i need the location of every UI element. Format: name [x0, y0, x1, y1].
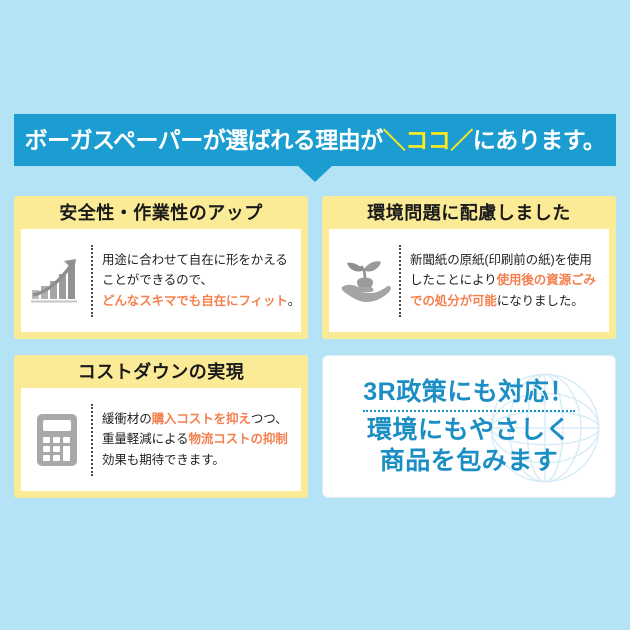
text-line: したことにより使用後の資源ごみ [410, 270, 603, 290]
promo-text: 3R政策にも対応！ 環境にもやさしく 商品を包みます [363, 377, 574, 477]
promo-line-3: 商品を包みます [363, 446, 574, 477]
promo-line-2: 環境にもやさしく [363, 415, 574, 446]
card-title: 安全性・作業性のアップ [14, 196, 308, 229]
banner-arrow-icon [298, 166, 332, 182]
text-line: 重量軽減による物流コストの抑制 [102, 429, 295, 449]
header-banner: ボーガスペーパーが選ばれる理由が＼ココ／にあります。 [0, 114, 630, 166]
banner-bar: ボーガスペーパーが選ばれる理由が＼ココ／にあります。 [14, 114, 616, 166]
promo-line-1: 3R政策にも対応！ [363, 377, 574, 413]
text-line: 緩衝材の購入コストを抑えつつ、 [102, 409, 295, 429]
icon-text-divider [91, 404, 93, 476]
text-line: 効果も期待できます。 [102, 450, 295, 470]
feature-card-grid: 安全性・作業性のアップ 用途に合わせて自在 [14, 196, 616, 498]
text-line: どんなスキマでも自在にフィット。 [102, 291, 300, 311]
hand-sprout-icon [333, 256, 397, 306]
card-body: 緩衝材の購入コストを抑えつつ、 重量軽減による物流コストの抑制 効果も期待できま… [21, 388, 301, 491]
card-title: 環境問題に配慮しました [322, 196, 616, 229]
feature-card-cost: コストダウンの実現 [14, 355, 308, 498]
banner-highlight: ＼ココ／ [383, 127, 473, 153]
bar-chart-growth-icon [25, 257, 89, 305]
card-title: コストダウンの実現 [14, 355, 308, 388]
banner-text-before: ボーガスペーパーが選ばれる理由が [25, 127, 383, 153]
card-body: 用途に合わせて自在に形をかえる ことができるので、 どんなスキマでも自在にフィッ… [21, 229, 301, 332]
promo-graphic: ボーガスペーパーが選ばれる理由が＼ココ／にあります。 安全性・作業性のアップ [0, 0, 630, 630]
icon-text-divider [399, 245, 401, 317]
card-text: 用途に合わせて自在に形をかえる ことができるので、 どんなスキマでも自在にフィッ… [102, 250, 300, 311]
promo-panel-3r: 3R政策にも対応！ 環境にもやさしく 商品を包みます [322, 355, 616, 498]
banner-text: ボーガスペーパーが選ばれる理由が＼ココ／にあります。 [25, 129, 606, 152]
banner-text-after: にあります。 [473, 127, 606, 153]
card-text: 新聞紙の原紙(印刷前の紙)を使用 したことにより使用後の資源ごみ での処分が可能… [410, 250, 603, 311]
card-text: 緩衝材の購入コストを抑えつつ、 重量軽減による物流コストの抑制 効果も期待できま… [102, 409, 295, 470]
text-line: ことができるので、 [102, 270, 300, 290]
text-line: での処分が可能になりました。 [410, 291, 603, 311]
text-line: 新聞紙の原紙(印刷前の紙)を使用 [410, 250, 603, 270]
icon-text-divider [91, 245, 93, 317]
card-body: 新聞紙の原紙(印刷前の紙)を使用 したことにより使用後の資源ごみ での処分が可能… [329, 229, 609, 332]
feature-card-safety: 安全性・作業性のアップ 用途に合わせて自在 [14, 196, 308, 339]
feature-card-environment: 環境問題に配慮しました 新聞紙の原紙(印刷前の紙)を使用 したことにより使用後の… [322, 196, 616, 339]
calculator-icon [25, 412, 89, 468]
text-line: 用途に合わせて自在に形をかえる [102, 250, 300, 270]
